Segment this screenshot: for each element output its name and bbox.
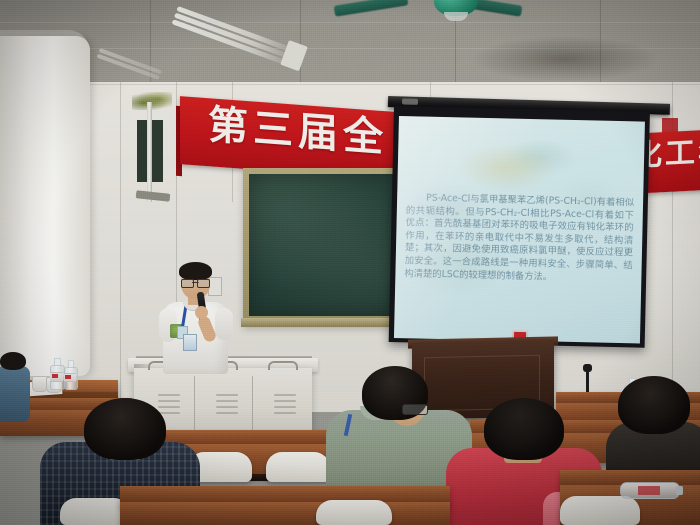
chair-back: [316, 500, 392, 525]
plant-decoration-icon: [132, 92, 172, 110]
banner-left-text: 第三届全: [208, 105, 388, 158]
chair-back: [560, 496, 640, 525]
desk-near-front: [120, 502, 450, 525]
water-bottle[interactable]: [64, 360, 76, 388]
presenter-sleeve-right: [215, 308, 233, 340]
structural-column: [0, 36, 90, 376]
presenter: [155, 262, 235, 374]
presenter-hair: [179, 262, 212, 280]
projection-screen: PS-Ace-Cl与氯甲基聚苯乙烯(PS-CH₂-Cl)有着相似的共轭结构。但与…: [394, 116, 645, 344]
presenter-badge: [183, 334, 197, 351]
ceiling-shadow: [470, 36, 660, 82]
roller-bracket: [402, 98, 418, 104]
glasses-icon: [402, 404, 428, 415]
glasses-icon: [181, 279, 210, 286]
water-bottle-lying[interactable]: [620, 482, 680, 499]
microphone-stand: [586, 368, 589, 392]
water-bottle[interactable]: [50, 358, 63, 388]
slide-body-text: PS-Ace-Cl与氯甲基聚苯乙烯(PS-CH₂-Cl)有着相似的共轭结构。但与…: [404, 192, 634, 285]
chair-back: [266, 452, 330, 482]
ceiling-fan-icon: [392, 0, 542, 38]
photo-scene: 第三届全 化工年 PS-Ace-Cl与氯甲基聚苯乙烯(PS-CH₂-Cl)有着相…: [0, 0, 700, 525]
list-item-attendee: [0, 352, 36, 422]
presenter-hand: [195, 306, 208, 319]
wall-mounted-fixture: [130, 92, 170, 202]
